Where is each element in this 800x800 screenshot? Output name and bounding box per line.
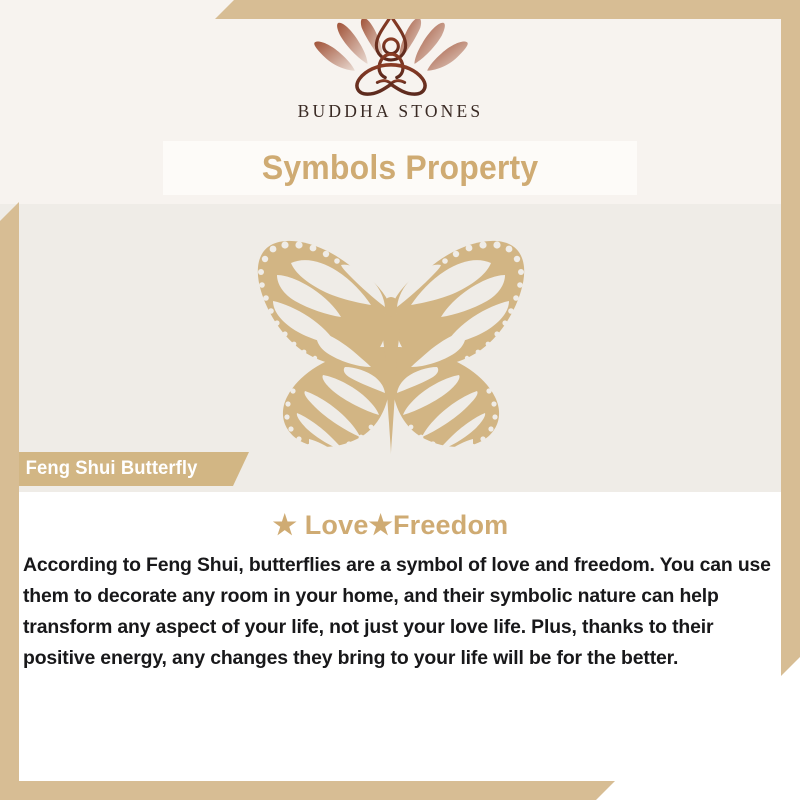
brand-logo: BUDDHA STONES xyxy=(0,14,781,136)
frame-bar-top xyxy=(215,0,800,19)
feng-shui-butterfly-ribbon: Feng Shui Butterfly xyxy=(0,452,249,486)
title-band: Symbols Property xyxy=(163,141,637,195)
butterfly-icon xyxy=(213,227,569,469)
header-panel: BUDDHA STONES Symbols Property xyxy=(0,0,781,204)
subtitle-love-freedom: ★ Love★Freedom xyxy=(0,510,781,541)
ribbon-label: Feng Shui Butterfly xyxy=(26,458,198,480)
body-area: ★ Love★Freedom According to Feng Shui, b… xyxy=(0,492,800,782)
frame-bar-left xyxy=(0,202,19,800)
lotus-meditation-figure-icon xyxy=(307,14,475,100)
frame-bar-bottom xyxy=(0,781,615,800)
page-title: Symbols Property xyxy=(262,149,539,188)
description-paragraph: According to Feng Shui, butterflies are … xyxy=(23,550,780,674)
brand-name: BUDDHA STONES xyxy=(298,101,484,122)
infographic-page: BUDDHA STONES Symbols Property xyxy=(0,0,800,800)
frame-bar-right xyxy=(781,0,800,676)
illustration-panel xyxy=(0,204,781,492)
